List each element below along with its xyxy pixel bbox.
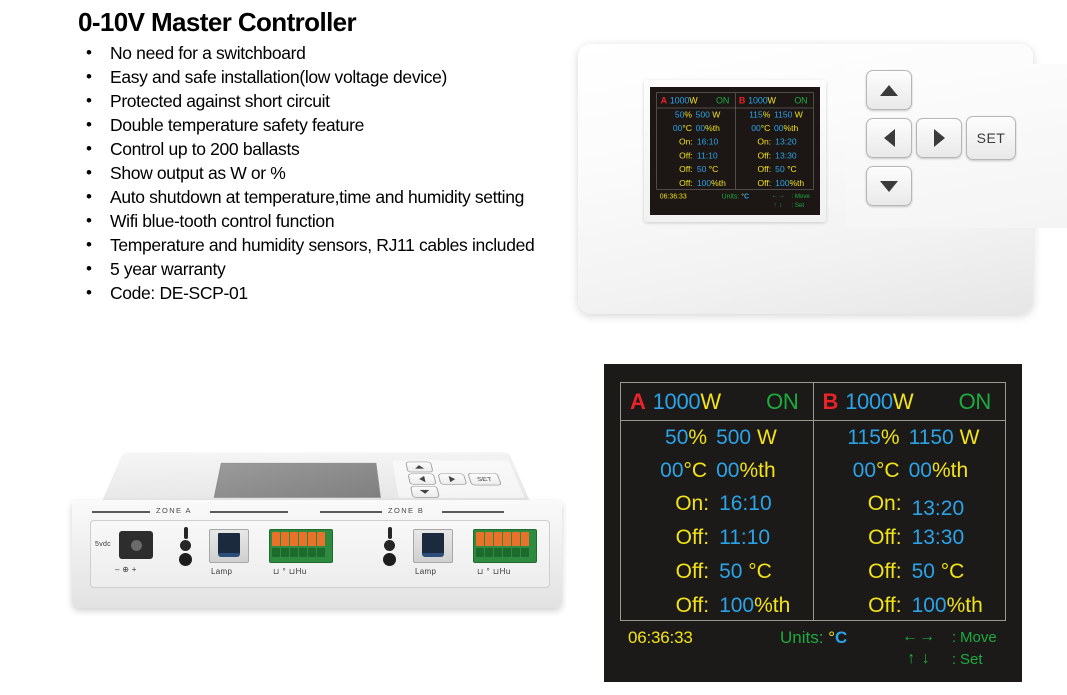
feature-text: Temperature and humidity sensors, RJ11 c… — [110, 235, 534, 255]
feature-text: Wifi blue-tooth control function — [110, 211, 334, 231]
zone-b-off-temp-value: 50 — [912, 560, 935, 583]
zone-a-temp-value: 00 — [660, 459, 683, 482]
zone-b-output-row: 115% 1150 W — [814, 421, 1006, 454]
feature-text: Show output as W or % — [110, 163, 286, 183]
terminal-holes-a — [270, 546, 332, 557]
zone-b-temp-unit: °C — [876, 459, 900, 482]
zone-a-off-hum-value: 100 — [719, 594, 754, 617]
zone-a-schedule-row: Off: 11:10 — [621, 521, 813, 555]
zone-temp-value: 00 — [751, 123, 761, 132]
zone-b-header: B 1000 W ON — [814, 383, 1006, 421]
up-button[interactable] — [866, 70, 912, 110]
sched-value: 16:10 — [697, 137, 718, 146]
zone-a-temp-unit: °C — [684, 459, 708, 482]
lamp-label-a: Lamp — [211, 567, 232, 576]
mini-zone-a-sensor-row: 00°C 00%th — [657, 122, 735, 135]
degree-icon: ° — [828, 628, 835, 647]
feature-text: Control up to 200 ballasts — [110, 139, 299, 159]
legend-set-label: Set — [960, 651, 1008, 668]
zone-b-power-unit: W — [893, 389, 913, 415]
lcd-zone-grid: A 1000 W ON 50% 500 W 00°C 00%th On: 16:… — [620, 382, 1006, 621]
chevron-down-icon — [880, 181, 898, 192]
zone-temp-unit: °C — [682, 123, 692, 132]
lamp-port-a[interactable] — [209, 529, 249, 563]
thermometer-bulb-icon — [384, 540, 395, 551]
zone-status: ON — [716, 95, 735, 106]
zone-b-schedule-row: On: 13:20 — [814, 487, 1006, 521]
feature-text: Double temperature safety feature — [110, 115, 364, 135]
sched-label: Off: — [657, 151, 697, 161]
feature-text: Auto shutdown at temperature,time and hu… — [110, 187, 524, 207]
zone-a-schedule-row: Off: 50 °C — [621, 555, 813, 589]
zone-status: ON — [794, 95, 813, 106]
zone-b-line-left — [320, 511, 382, 513]
device-port-plate: 5vdc – ⊕ + Lamp ⊔ ° ⊔Hu Lamp — [90, 520, 550, 588]
down-button[interactable] — [866, 166, 912, 206]
power-jack[interactable] — [119, 531, 153, 559]
zone-watts-value: 500 — [696, 110, 710, 119]
list-item: •Show output as W or % — [78, 162, 578, 186]
device-right-button[interactable] — [438, 474, 468, 485]
zone-b-on-time: 13:20 — [912, 497, 965, 520]
device-top-face: SET — [100, 452, 532, 506]
thermometer-bulb-icon — [180, 540, 191, 551]
terminal-label-b: ⊔ ° ⊔Hu — [477, 567, 511, 576]
terminal-label-a: ⊔ ° ⊔Hu — [273, 567, 307, 576]
mini-arrows-icon: ↑ ↓ — [766, 201, 790, 208]
zone-a-percent-unit: % — [688, 426, 707, 449]
terminal-block-a[interactable] — [269, 529, 333, 563]
feature-text: Code: DE-SCP-01 — [110, 283, 248, 303]
chevron-left-icon — [418, 476, 425, 482]
sensor-jack-b — [383, 553, 396, 566]
device-set-button[interactable]: SET — [467, 473, 502, 485]
temp-sensor-port-a[interactable] — [179, 527, 192, 566]
zone-b-off-hum-unit: %th — [947, 594, 983, 617]
power-pin-icon — [131, 540, 142, 551]
sched-label: On: — [657, 137, 697, 147]
zone-b-humidity-value: 00 — [909, 459, 932, 482]
zone-a-status-badge: ON — [766, 389, 812, 415]
list-item: •No need for a switchboard — [78, 42, 578, 66]
zone-a-schedule-row: On: 16:10 — [621, 487, 813, 521]
legend-colon: : — [948, 651, 960, 668]
right-button[interactable] — [916, 118, 962, 158]
power-input-label: 5vdc — [95, 541, 111, 548]
zone-b-off-temp-label: Off: — [814, 560, 912, 584]
zone-watts-unit: W — [712, 110, 720, 119]
list-item: •Auto shutdown at temperature,time and h… — [78, 186, 578, 210]
wall-screen-bezel: A 1000 W ON 50% 500 W 00°C 00%th — [644, 80, 826, 222]
zone-percent-value: 115 — [749, 110, 763, 119]
zone-a-off-temp-unit: °C — [748, 560, 772, 583]
zone-a-sensor-row: 00°C 00%th — [621, 454, 813, 487]
mini-clock: 06:36:33 — [660, 192, 687, 200]
lcd-status-bar: 06:36:33 Units: °C ←→ : Move ↑ ↓ : Set — [620, 626, 1010, 674]
sched-value: 13:20 — [775, 137, 796, 146]
legend-set-row: ↑ ↓ : Set — [890, 648, 1008, 670]
zone-power-value: 1000 — [667, 95, 689, 106]
bullet-icon: • — [86, 210, 92, 233]
bullet-icon: • — [86, 234, 92, 257]
zone-b-percent-value: 115 — [847, 426, 880, 449]
zone-b-temp-value: 00 — [853, 459, 876, 482]
mini-arrows-icon: ←→ — [766, 192, 790, 199]
zone-b-watts-value: 1150 — [909, 426, 954, 449]
zone-humidity-unit: %th — [783, 123, 798, 132]
zone-watts-value: 1150 — [774, 110, 792, 119]
zone-b-off-hum-label: Off: — [814, 594, 912, 618]
zone-percent-unit: % — [763, 110, 771, 119]
zone-divider-bar: ZONE A ZONE B — [92, 504, 548, 518]
sched-label: Off: — [735, 151, 775, 161]
zone-a-line-right — [210, 511, 288, 513]
bullet-icon: • — [86, 114, 92, 137]
wall-lcd-screen: A 1000 W ON 50% 500 W 00°C 00%th — [650, 87, 820, 215]
zone-b-schedule-row: Off: 13:30 — [814, 521, 1006, 555]
sched-unit: %th — [789, 179, 804, 188]
zone-a-humidity-unit: %th — [739, 459, 775, 482]
zone-b-off-temp-unit: °C — [941, 560, 965, 583]
sched-label: Off: — [735, 179, 775, 189]
controller-lcd-display: A 1000 W ON 50% 500 W 00°C 00%th On: 16:… — [604, 364, 1022, 682]
zone-power-unit: W — [689, 95, 697, 106]
sched-unit: °C — [787, 165, 797, 174]
bullet-icon: • — [86, 90, 92, 113]
zone-power-unit: W — [768, 95, 776, 106]
set-button[interactable]: SET — [966, 116, 1016, 160]
zone-power-value: 1000 — [745, 95, 767, 106]
zone-temp-value: 00 — [673, 123, 683, 132]
chevron-right-icon — [449, 476, 456, 482]
zone-watts-unit: W — [795, 110, 803, 119]
mini-zone-a: A 1000 W ON 50% 500 W 00°C 00%th — [657, 93, 735, 189]
zone-b-power-value: 1000 — [838, 389, 893, 415]
zone-b-id: B — [814, 389, 839, 415]
mini-zone-a-header: A 1000 W ON — [657, 93, 735, 108]
feature-text: Protected against short circuit — [110, 91, 330, 111]
zone-humidity-value: 00 — [774, 123, 784, 132]
zone-id: B — [735, 95, 745, 106]
zone-id: A — [657, 95, 667, 106]
zone-a-column: A 1000 W ON 50% 500 W 00°C 00%th On: 16:… — [621, 383, 813, 620]
list-item: •Easy and safe installation(low voltage … — [78, 66, 578, 90]
left-button[interactable] — [866, 118, 912, 158]
list-item: •Temperature and humidity sensors, RJ11 … — [78, 234, 578, 258]
terminal-block-b[interactable] — [473, 529, 537, 563]
list-item: •5 year warranty — [78, 258, 578, 282]
sched-value: 50 — [697, 165, 707, 174]
bullet-icon: • — [86, 282, 92, 305]
zone-a-label: ZONE A — [156, 506, 192, 515]
mini-units-label: Units: — [722, 192, 740, 200]
controller-device-photo: SET ZONE A ZONE B 5vdc – ⊕ + Lamp — [62, 412, 574, 640]
zone-percent-value: 50 — [675, 110, 685, 119]
legend-move-row: ←→ : Move — [890, 626, 1008, 648]
device-up-button[interactable] — [405, 462, 433, 473]
device-down-button[interactable] — [410, 486, 440, 498]
chevron-down-icon — [420, 490, 431, 494]
mini-zone-a-output-row: 50% 500 W — [657, 108, 735, 121]
zone-a-off-time: 11:10 — [719, 526, 770, 549]
device-lcd-panel — [214, 463, 381, 498]
temp-sensor-port-b[interactable] — [383, 527, 396, 566]
zone-a-off-temp-label: Off: — [621, 560, 719, 584]
chevron-right-icon — [934, 129, 945, 147]
mini-zone-b-header: B 1000 W ON — [735, 93, 813, 108]
terminal-holes-b — [474, 546, 536, 557]
thermometer-icon — [388, 527, 392, 539]
mini-zone-b: B 1000 W ON 115%1150 W 00°C00%th On:13:2… — [735, 93, 813, 189]
zone-a-humidity-value: 00 — [716, 459, 739, 482]
list-item: •Control up to 200 ballasts — [78, 138, 578, 162]
sched-value: 100 — [697, 179, 711, 188]
bullet-icon: • — [86, 42, 92, 65]
sched-label: Off: — [657, 179, 697, 189]
zone-percent-unit: % — [684, 110, 692, 119]
legend-move-label: Move — [960, 629, 1008, 646]
zone-a-schedule-row: Off: 100%th — [621, 589, 813, 623]
feature-list: •No need for a switchboard •Easy and saf… — [78, 42, 578, 306]
zone-b-schedule-row: Off: 50 °C — [814, 555, 1006, 589]
rj11-slot-icon — [422, 533, 444, 557]
list-item: •Protected against short circuit — [78, 90, 578, 114]
zone-b-label: ZONE B — [388, 506, 424, 515]
sched-label: Off: — [735, 165, 775, 175]
zone-a-off-hum-label: Off: — [621, 594, 719, 618]
polarity-label: – ⊕ + — [115, 565, 137, 574]
zone-b-sensor-row: 00°C 00%th — [814, 454, 1006, 487]
device-left-button[interactable] — [408, 474, 437, 485]
sched-value: 50 — [775, 165, 785, 174]
zone-a-on-time: 16:10 — [719, 492, 772, 515]
zone-b-off-hum-value: 100 — [912, 594, 947, 617]
lamp-port-b[interactable] — [413, 529, 453, 563]
zone-b-off-time: 13:30 — [912, 526, 965, 549]
feature-text: No need for a switchboard — [110, 43, 306, 63]
bullet-icon: • — [86, 258, 92, 281]
zone-a-off-hum-unit: %th — [754, 594, 790, 617]
zone-a-header: A 1000 W ON — [621, 383, 813, 421]
sensor-jack-a — [179, 553, 192, 566]
wall-controller-unit: A 1000 W ON 50% 500 W 00°C 00%th — [578, 44, 1033, 314]
list-item: •Wifi blue-tooth control function — [78, 210, 578, 234]
thermometer-icon — [184, 527, 188, 539]
feature-text: 5 year warranty — [110, 259, 225, 279]
zone-a-id: A — [621, 389, 646, 415]
chevron-up-icon — [880, 85, 898, 96]
bullet-icon: • — [86, 66, 92, 89]
zone-a-output-row: 50% 500 W — [621, 421, 813, 454]
zone-b-on-label: On: — [814, 492, 912, 516]
feature-text: Easy and safe installation(low voltage d… — [110, 67, 447, 87]
sched-unit: %th — [711, 179, 726, 188]
zone-a-power-value: 1000 — [646, 389, 701, 415]
units-label: Units: — [780, 628, 823, 647]
device-front-face: ZONE A ZONE B 5vdc – ⊕ + Lamp ⊔ ° ⊔Hu — [72, 500, 562, 608]
zone-b-off-label: Off: — [814, 526, 912, 550]
up-down-arrows-icon: ↑ ↓ — [890, 650, 948, 668]
chevron-left-icon — [884, 129, 895, 147]
zone-temp-unit: °C — [761, 123, 771, 132]
bullet-icon: • — [86, 162, 92, 185]
zone-a-power-unit: W — [700, 389, 720, 415]
device-keypad: SET — [392, 461, 524, 498]
rj11-slot-icon — [218, 533, 240, 557]
wall-keypad: SET — [846, 64, 1067, 228]
sched-value: 11:10 — [697, 151, 718, 160]
lamp-label-b: Lamp — [415, 567, 436, 576]
zone-b-humidity-unit: %th — [932, 459, 968, 482]
units-indicator: Units: °C — [780, 628, 847, 648]
zone-a-on-label: On: — [621, 492, 719, 516]
clock-readout: 06:36:33 — [628, 628, 693, 648]
sched-unit: °C — [709, 165, 719, 174]
zone-a-watts-unit: W — [757, 426, 777, 449]
zone-humidity-unit: %th — [705, 123, 720, 132]
zone-a-off-temp-value: 50 — [719, 560, 742, 583]
key-legend: ←→ : Move ↑ ↓ : Set — [890, 626, 1008, 670]
zone-b-watts-unit: W — [960, 426, 980, 449]
product-spec-panel: 0-10V Master Controller •No need for a s… — [78, 8, 578, 306]
terminal-levers-a — [270, 530, 332, 546]
bullet-icon: • — [86, 138, 92, 161]
page-title: 0-10V Master Controller — [78, 8, 578, 38]
list-item: •Code: DE-SCP-01 — [78, 282, 578, 306]
mini-units-value: C — [744, 192, 749, 200]
terminal-levers-b — [474, 530, 536, 546]
sched-label: On: — [735, 137, 775, 147]
sched-label: Off: — [657, 165, 697, 175]
chevron-up-icon — [414, 465, 424, 469]
zone-a-off-label: Off: — [621, 526, 719, 550]
zone-a-watts-value: 500 — [716, 426, 751, 449]
bullet-icon: • — [86, 186, 92, 209]
zone-b-percent-unit: % — [881, 426, 900, 449]
zone-b-status-badge: ON — [959, 389, 1005, 415]
units-value: C — [835, 628, 847, 647]
zone-a-percent-value: 50 — [665, 426, 688, 449]
sched-value: 13:30 — [775, 151, 796, 160]
zone-a-line-left — [92, 511, 150, 513]
left-right-arrows-icon: ←→ — [890, 628, 948, 646]
list-item: •Double temperature safety feature — [78, 114, 578, 138]
legend-colon: : — [948, 629, 960, 646]
zone-b-column: B 1000 W ON 115% 1150 W 00°C 00%th On: 1… — [813, 383, 1006, 620]
zone-b-schedule-row: Off: 100%th — [814, 589, 1006, 623]
zone-humidity-value: 00 — [696, 123, 706, 132]
zone-b-line-right — [442, 511, 504, 513]
wall-lcd-mini-content: A 1000 W ON 50% 500 W 00°C 00%th — [650, 87, 820, 214]
sched-value: 100 — [775, 179, 789, 188]
